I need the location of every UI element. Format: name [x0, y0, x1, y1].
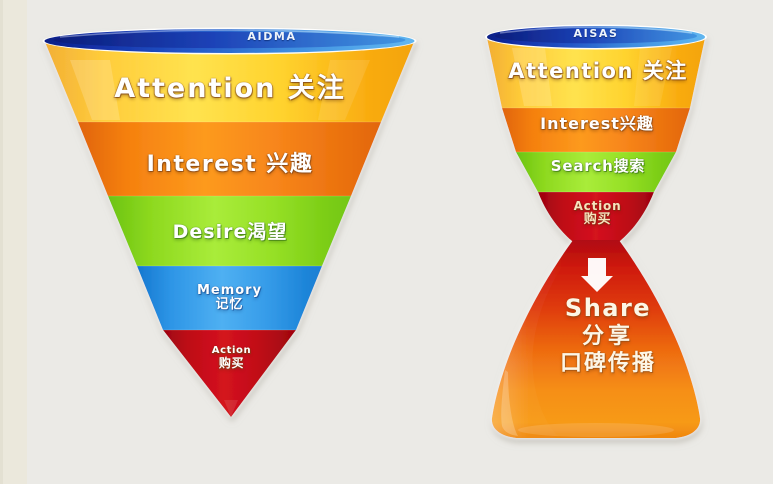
aidma-band-memory: [137, 266, 322, 330]
aidma-band-interest: [78, 122, 381, 196]
aidma-rim: [43, 28, 417, 55]
aidma-band-desire: [108, 196, 351, 266]
aisas-band-search: [516, 152, 676, 192]
aisas-band-interest: [502, 108, 690, 152]
aidma-funnel: [43, 28, 417, 418]
aisas-rim: [485, 25, 707, 50]
aisas-funnel: [485, 25, 707, 439]
funnels-svg: [0, 0, 773, 484]
diagram-canvas: AIDMA Attention 关注 Interest 兴趣 Desire渴望 …: [0, 0, 773, 484]
